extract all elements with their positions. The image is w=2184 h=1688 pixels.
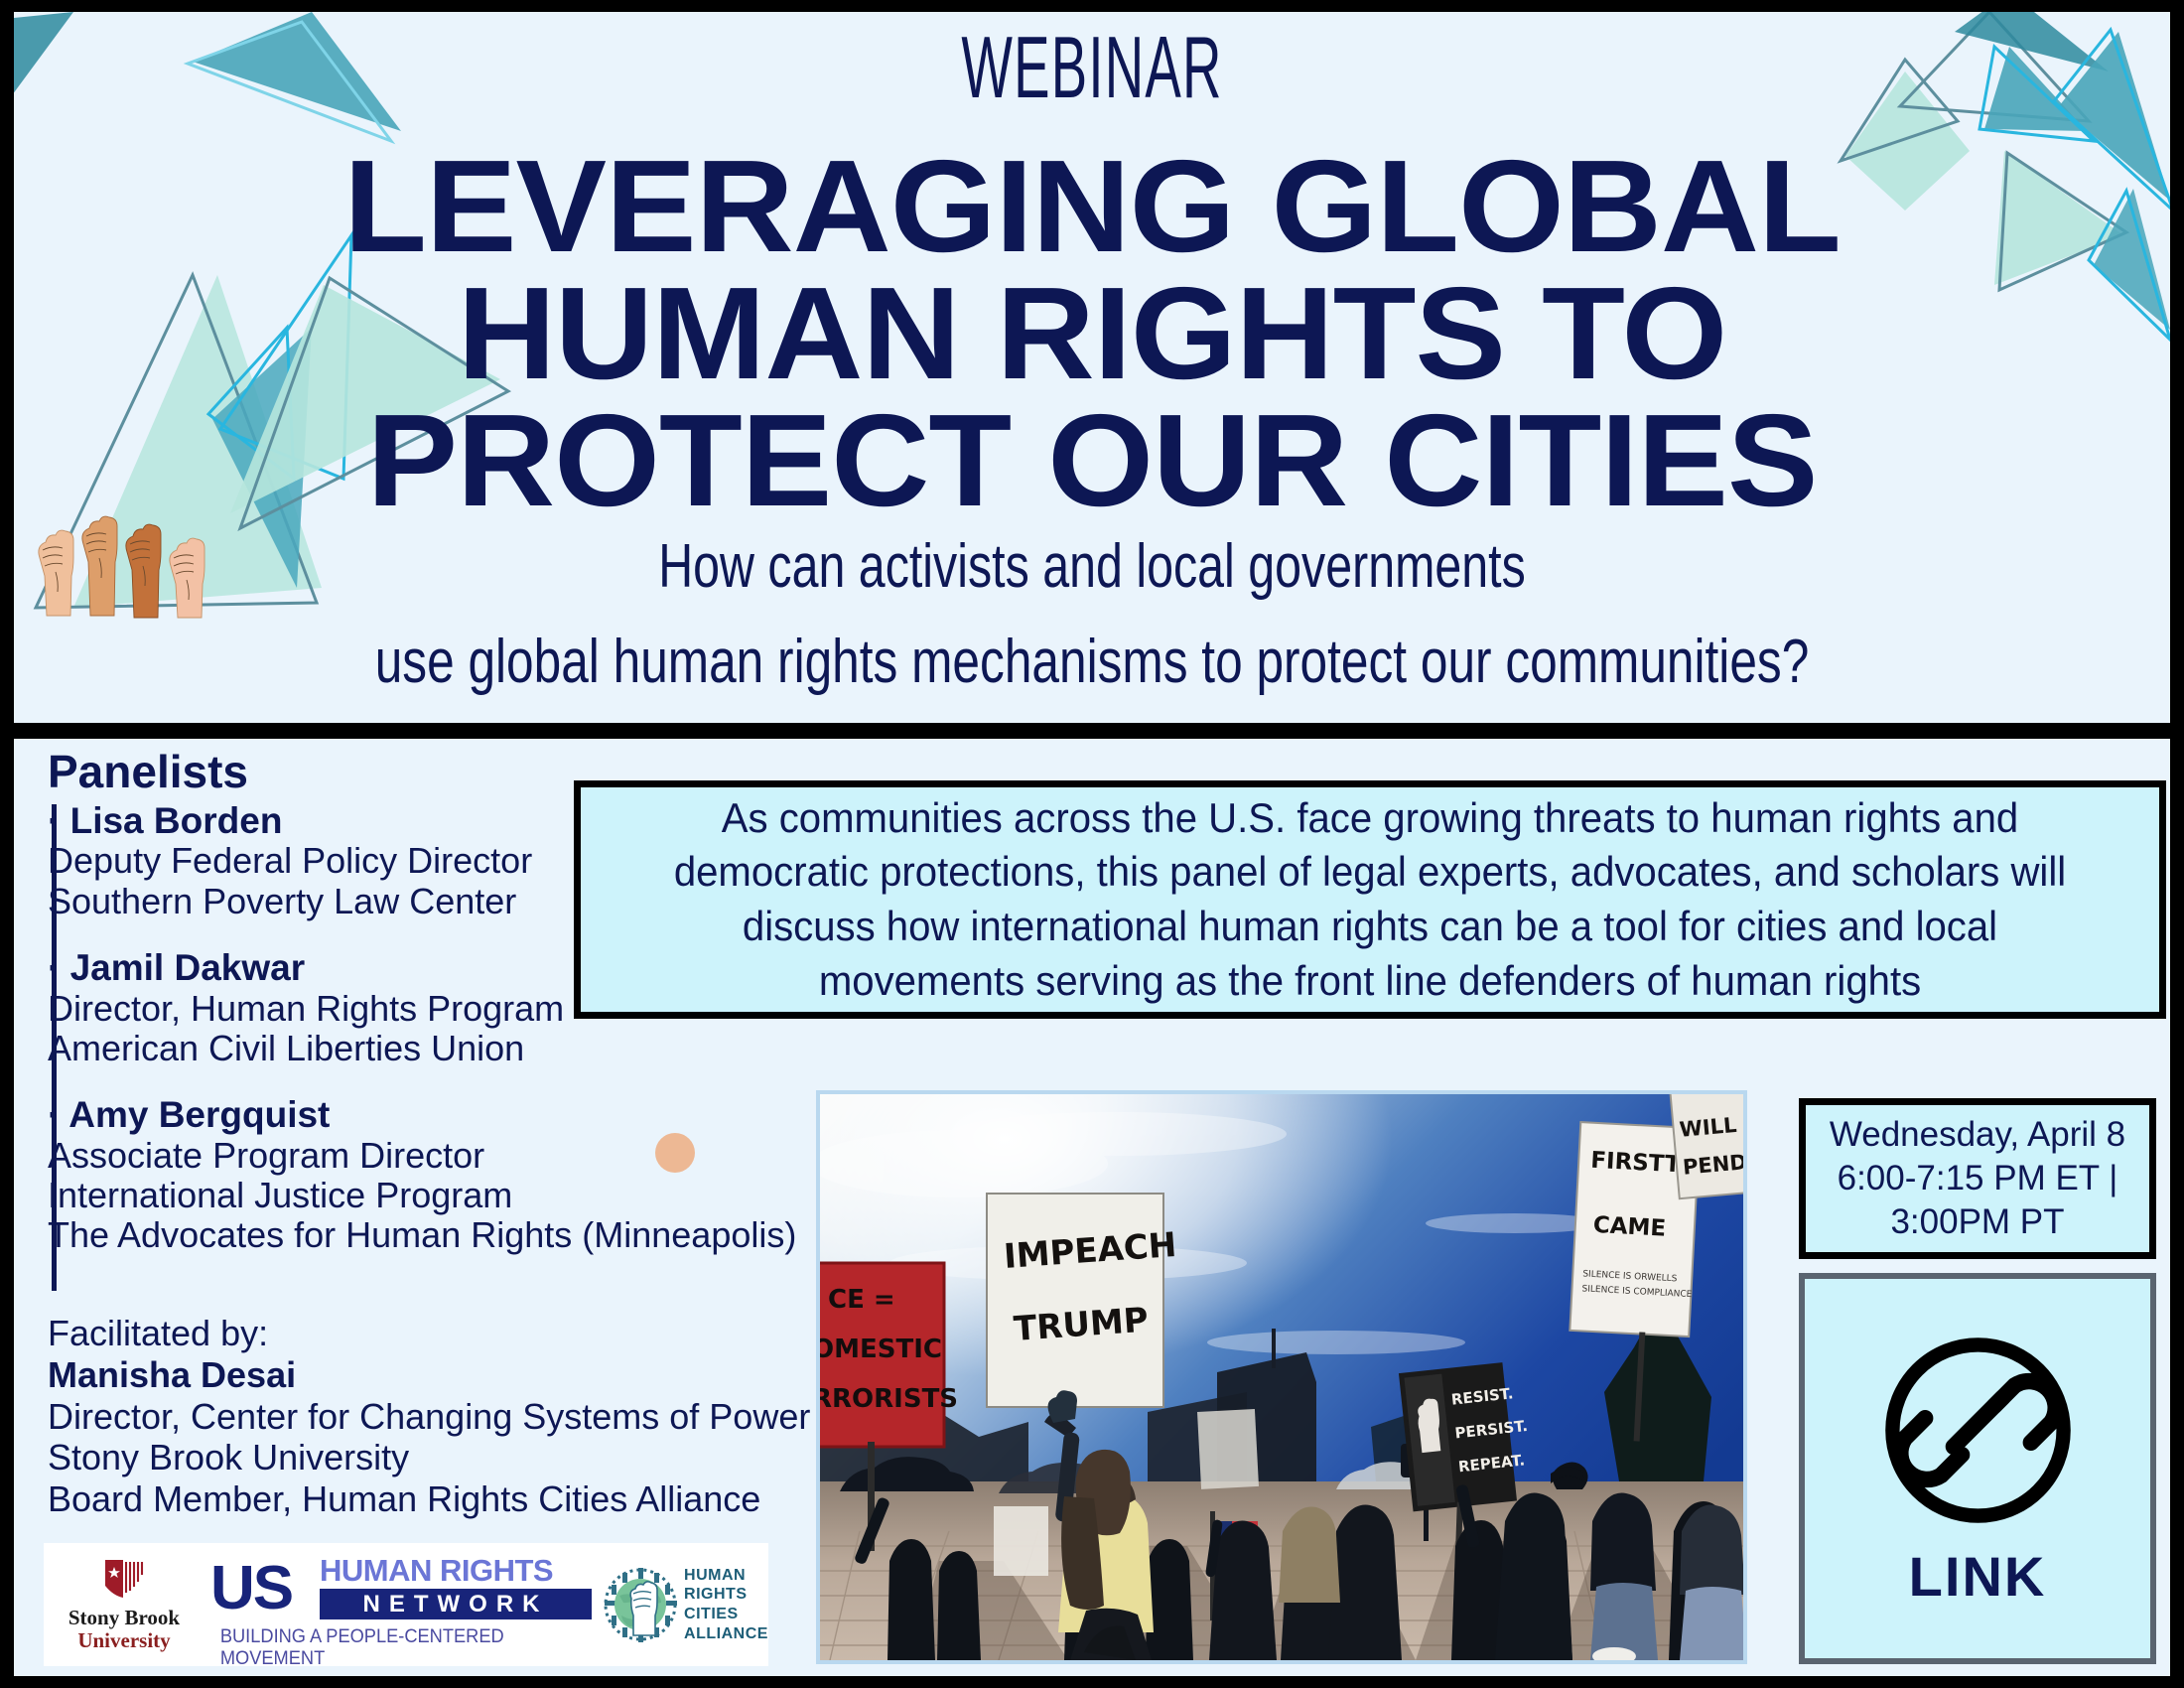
human-rights-cities-alliance-logo: HUMAN RIGHTS CITIES ALLIANCE	[602, 1543, 768, 1666]
description-box: As communities across the U.S. face grow…	[574, 780, 2166, 1019]
webinar-poster: WEBINAR LEVERAGING GLOBAL HUMAN RIGHTS T…	[0, 0, 2184, 1688]
description-text: As communities across the U.S. face grow…	[616, 791, 2123, 1008]
event-time-pt: 3:00PM PT	[1830, 1200, 2125, 1244]
link-label[interactable]: LINK	[1909, 1544, 2047, 1609]
photo-content: CE = OMESTIC RRORISTS IMPEACH TRUMP	[820, 1094, 1743, 1660]
svg-text:CAME: CAME	[1592, 1212, 1667, 1242]
page-title-line-1: LEVERAGING GLOBAL	[14, 141, 2170, 272]
ushrn-network-band: NETWORK	[320, 1589, 592, 1619]
eyebrow-webinar: WEBINAR	[424, 24, 1761, 111]
stony-brook-line-2: University	[68, 1629, 180, 1651]
subtitle-line-1: How can activists and local governments	[251, 536, 1933, 598]
decorative-peach-dot	[655, 1133, 695, 1173]
facilitator-intro: Facilitated by:	[48, 1313, 832, 1354]
facilitator-name: Manisha Desai	[48, 1354, 832, 1396]
facilitator-role-2: Stony Brook University	[48, 1437, 832, 1478]
stony-brook-shield-icon	[101, 1558, 147, 1602]
panelist-detail: The Advocates for Human Rights (Minneapo…	[48, 1215, 812, 1255]
panelist-detail: Associate Program Director	[48, 1136, 812, 1176]
hrca-globe-fist-icon	[602, 1566, 679, 1643]
svg-text:OMESTIC: OMESTIC	[820, 1335, 942, 1364]
hrca-line-1: HUMAN	[684, 1566, 768, 1586]
panelists-heading: Panelists	[48, 745, 248, 798]
facilitator-role-1: Director, Center for Changing Systems of…	[48, 1396, 832, 1438]
subtitle-line-2: use global human rights mechanisms to pr…	[229, 632, 1955, 693]
facilitator-role-3: Board Member, Human Rights Cities Allian…	[48, 1478, 832, 1520]
hrca-line-2: RIGHTS	[684, 1585, 768, 1605]
us-human-rights-network-logo: US HUMAN RIGHTS NETWORK BUILDING A PEOPL…	[205, 1543, 602, 1666]
svg-text:CE =: CE =	[828, 1285, 895, 1315]
svg-text:RRORISTS: RRORISTS	[820, 1384, 958, 1414]
hrca-line-4: ALLIANCE	[684, 1624, 768, 1644]
stony-brook-university-logo: Stony Brook University	[44, 1543, 205, 1666]
panelist-detail: International Justice Program	[48, 1176, 812, 1215]
svg-text:PEND: PEND	[1682, 1150, 1743, 1180]
hrca-line-3: CITIES	[684, 1605, 768, 1624]
svg-text:WILL: WILL	[1679, 1113, 1738, 1142]
panelist-detail: American Civil Liberties Union	[48, 1029, 812, 1068]
event-datetime-box: Wednesday, April 8 6:00-7:15 PM ET | 3:0…	[1799, 1098, 2156, 1259]
page-title-line-3: PROTECT OUR CITIES	[14, 395, 2170, 526]
stony-brook-line-1: Stony Brook	[68, 1607, 180, 1628]
logo-strip: Stony Brook University US HUMAN RIGHTS N…	[44, 1543, 768, 1666]
link-chain-icon[interactable]	[1876, 1329, 2080, 1532]
facilitator-block: Facilitated by: Manisha Desai Director, …	[48, 1313, 832, 1520]
panelist-spacer	[48, 1068, 812, 1094]
ushrn-human-rights-text: HUMAN RIGHTS	[320, 1553, 553, 1589]
header-panel: WEBINAR LEVERAGING GLOBAL HUMAN RIGHTS T…	[14, 12, 2170, 723]
event-time-et: 6:00-7:15 PM ET |	[1830, 1157, 2125, 1200]
page-title-line-2: HUMAN RIGHTS TO	[14, 268, 2170, 399]
protest-march-photo: CE = OMESTIC RRORISTS IMPEACH TRUMP	[816, 1090, 1747, 1664]
ushrn-tagline: BUILDING A PEOPLE-CENTERED MOVEMENT	[220, 1626, 594, 1670]
ushrn-us-mark: US	[210, 1553, 292, 1623]
panelist-name: · Amy Bergquist	[48, 1094, 812, 1135]
event-date: Wednesday, April 8	[1830, 1113, 2125, 1157]
registration-link-button[interactable]: LINK	[1799, 1273, 2156, 1664]
